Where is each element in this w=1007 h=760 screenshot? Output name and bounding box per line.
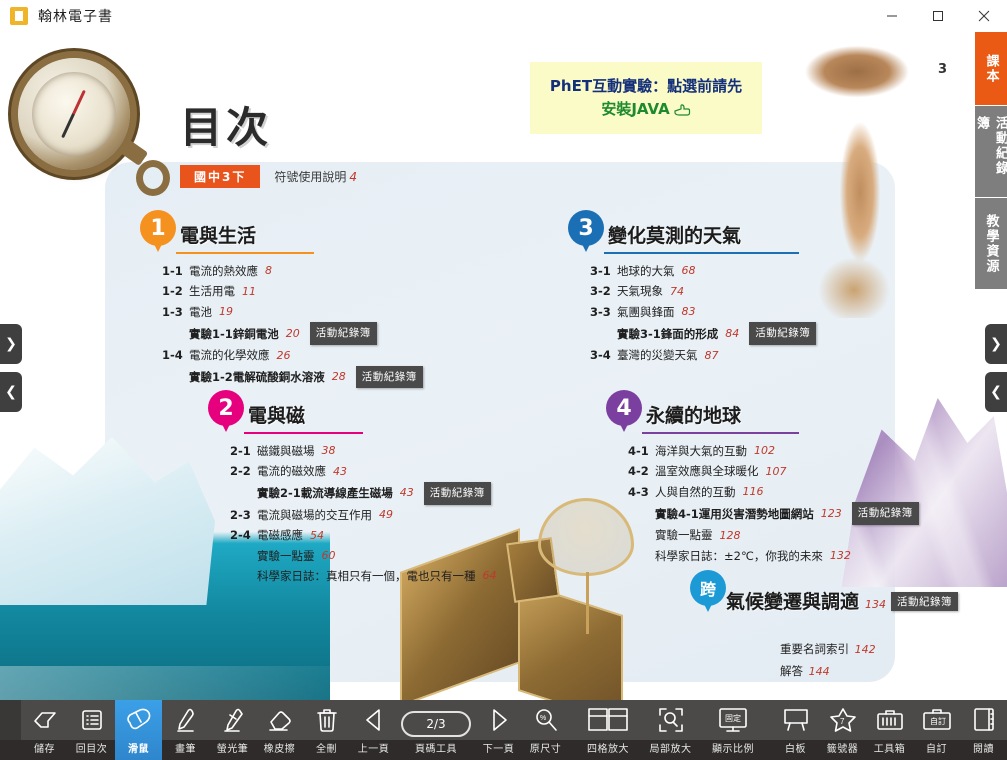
toolbar-item-label: 回目次 [76, 740, 108, 755]
toc-entry[interactable]: 4-1海洋與大氣的互動102 [628, 441, 919, 461]
compass-illustration [8, 40, 176, 215]
chapter-underline [176, 252, 314, 254]
toolbar-item-label: 閱讀 [973, 740, 994, 755]
window-title: 翰林電子書 [38, 6, 113, 26]
chapter-block-4[interactable]: 4永續的地球4-1海洋與大氣的互動1024-2溫室效應與全球暖化1074-3人與… [606, 390, 919, 566]
toc-entry-number: 4-3 [628, 482, 650, 502]
cross-discipline-page: 134 [865, 598, 886, 611]
side-tab-label: 教學資源 [982, 214, 1001, 274]
chapter-section-list: 4-1海洋與大氣的互動1024-2溫室效應與全球暖化1074-3人與自然的互動1… [606, 441, 919, 566]
toolbar-mouse[interactable]: 滑鼠 [115, 700, 162, 760]
whiteboard-icon [782, 700, 810, 740]
toc-entry-page: 54 [310, 526, 324, 546]
phet-notice-line2: 安裝JAVA [601, 98, 690, 121]
toolbar-custom[interactable]: 自訂自訂 [913, 700, 960, 760]
mouse-icon [124, 700, 154, 740]
toc-entry[interactable]: 1-2生活用電11 [162, 281, 423, 301]
toc-entry-page: 43 [400, 483, 414, 503]
toc-entry-label: 實驗一點靈 [257, 546, 315, 566]
toolbar-item-label: 儲存 [34, 740, 55, 755]
phet-notice-line2-text: 安裝JAVA [601, 98, 669, 121]
toolbar-star-lottery[interactable]: 7籤號器 [819, 700, 866, 760]
toc-entry[interactable]: 科學家日誌：±2℃，你我的未來132 [628, 546, 919, 566]
toc-entry-label: 電池 [189, 302, 212, 322]
cross-discipline-record-badge[interactable]: 活動紀錄簿 [891, 592, 958, 611]
toc-list-icon [80, 700, 104, 740]
toc-entry[interactable]: 3-4臺灣的災變天氣87 [590, 345, 816, 365]
custom-icon: 自訂 [922, 700, 952, 740]
toc-entry-page: 26 [277, 346, 291, 366]
reading-book-icon [972, 700, 996, 740]
toc-entry-page: 19 [219, 302, 233, 322]
bottom-toolbar: 儲存回目次滑鼠畫筆螢光筆橡皮擦全刪上一頁2/3頁碼工具下一頁%原尺寸四格放大局部… [0, 700, 1007, 760]
toolbar-highlighter[interactable]: 螢光筆 [209, 700, 256, 760]
toolbar-display-scale[interactable]: 固定顯示比例 [694, 700, 772, 760]
toc-entry-number: 3-1 [590, 261, 612, 281]
back-matter-page: 144 [809, 665, 830, 678]
toolbar-item-label: 原尺寸 [530, 740, 562, 755]
chapter-title: 電與生活 [180, 221, 314, 248]
activity-record-badge[interactable]: 活動紀錄簿 [356, 366, 423, 389]
toolbar-next-page[interactable]: 下一頁 [475, 700, 522, 760]
toc-entry[interactable]: 2-1磁鐵與磁場38 [230, 441, 497, 461]
toc-entry-page: 11 [242, 282, 256, 302]
toc-entry-number: 2-1 [230, 441, 252, 461]
toc-entry-label: 電流的磁效應 [257, 461, 326, 481]
toolbar-toolbox[interactable]: 工具箱 [866, 700, 913, 760]
toolbar-prev-page[interactable]: 上一頁 [350, 700, 397, 760]
grade-badge: 國中3下 [180, 165, 260, 188]
right-prev-arrow[interactable]: ❮ [985, 372, 1007, 412]
pen-icon [174, 700, 198, 740]
toc-entry-label: 實驗一點靈 [655, 525, 713, 545]
toc-entry[interactable]: 3-3氣團與鋒面83 [590, 302, 816, 322]
chapter-block-3[interactable]: 3變化莫測的天氣3-1地球的大氣683-2天氣現象743-3氣團與鋒面83實驗3… [568, 210, 816, 366]
toc-entry-label: 海洋與大氣的互動 [655, 441, 747, 461]
save-diamond-icon [32, 700, 58, 740]
toc-entry[interactable]: 科學家日誌：真相只有一個，電也只有一種64 [230, 566, 497, 586]
toolbar-whiteboard[interactable]: 白板 [772, 700, 819, 760]
cross-discipline-pin: 跨 [690, 570, 726, 614]
toc-entry-number: 2-3 [230, 505, 252, 525]
toc-entry[interactable]: 實驗1-2電解硫酸銅水溶液28活動紀錄簿 [162, 366, 423, 389]
back-matter-entry[interactable]: 重要名詞索引 142 [780, 639, 876, 661]
chapter-pin-4: 4 [606, 390, 642, 434]
toc-entry-label: 地球的大氣 [617, 261, 675, 281]
toc-entry-number: 3-3 [590, 302, 612, 322]
toolbar-eraser[interactable]: 橡皮擦 [256, 700, 303, 760]
activity-record-badge[interactable]: 活動紀錄簿 [749, 322, 816, 345]
chapter-section-list: 1-1電流的熱效應81-2生活用電111-3電池19實驗1-1鋅銅電池20活動紀… [140, 261, 423, 388]
toc-entry-label: 電流與磁場的交互作用 [257, 505, 372, 525]
toc-entry[interactable]: 2-3電流與磁場的交互作用49 [230, 505, 497, 525]
toc-entry-label: 溫室效應與全球暖化 [655, 461, 759, 481]
page-number-tool-icon: 2/3 [401, 700, 471, 740]
back-matter-list: 重要名詞索引 142解答 144 [780, 639, 876, 683]
toolbar-actual-size[interactable]: %原尺寸 [522, 700, 569, 760]
toc-entry[interactable]: 實驗1-1鋅銅電池20活動紀錄簿 [162, 322, 423, 345]
toc-entry-page: 83 [682, 302, 696, 322]
toolbar-item-label: 工具箱 [874, 740, 906, 755]
toc-entry-label: 臺灣的災變天氣 [617, 345, 698, 365]
toc-entry-number: 4-2 [628, 461, 650, 481]
toolbar-pen[interactable]: 畫筆 [162, 700, 209, 760]
prev-page-icon [362, 700, 386, 740]
toolbar-item-label: 籤號器 [827, 740, 859, 755]
quad-zoom-icon [588, 700, 628, 740]
highlighter-icon [221, 700, 245, 740]
toc-entry[interactable]: 實驗一點靈60 [230, 546, 497, 566]
toc-entry-label: 實驗3-1鋒面的形成 [617, 324, 718, 344]
eraser-icon [267, 700, 293, 740]
actual-size-icon: % [533, 700, 559, 740]
toc-entry-label: 電磁感應 [257, 525, 303, 545]
chapter-pin-3: 3 [568, 210, 604, 254]
toc-entry-label: 科學家日誌：±2℃，你我的未來 [655, 546, 823, 566]
chapter-pin-2: 2 [208, 390, 244, 434]
close-button[interactable] [961, 0, 1007, 32]
toolbar-item-label: 螢光筆 [217, 740, 249, 755]
display-scale-icon: 固定 [717, 700, 749, 740]
toc-entry-label: 氣團與鋒面 [617, 302, 675, 322]
toolbar-reading-book[interactable]: 閱讀 [960, 700, 1007, 760]
toc-entry-number: 2-2 [230, 461, 252, 481]
book-page-canvas[interactable]: 3 PhET互動實驗：點選前請先 安裝JAVA 目次 國中3下 符號使用說明4 … [0, 32, 1007, 700]
toolbar-trash[interactable]: 全刪 [303, 700, 350, 760]
phet-java-notice: PhET互動實驗：點選前請先 安裝JAVA [530, 62, 762, 134]
chapter-block-2[interactable]: 2電與磁2-1磁鐵與磁場382-2電流的磁效應43實驗2-1載流導線產生磁場43… [208, 390, 497, 587]
toolbar-page-number-tool[interactable]: 2/3頁碼工具 [397, 700, 475, 760]
toc-entry-label: 生活用電 [189, 281, 235, 301]
toc-entry-label: 磁鐵與磁場 [257, 441, 315, 461]
left-prev-arrow[interactable]: ❮ [0, 372, 22, 412]
toolbox-icon [876, 700, 904, 740]
toc-entry-page: 74 [670, 282, 684, 302]
toolbar-item-label: 白板 [785, 740, 806, 755]
chapter-block-1[interactable]: 1電與生活1-1電流的熱效應81-2生活用電111-3電池19實驗1-1鋅銅電池… [140, 210, 423, 388]
toc-entry[interactable]: 實驗一點靈128 [628, 525, 919, 545]
toc-entry[interactable]: 實驗2-1載流導線產生磁場43活動紀錄簿 [230, 482, 497, 505]
toc-entry[interactable]: 1-4電流的化學效應26 [162, 345, 423, 365]
side-tab-課本[interactable]: 課本 [975, 32, 1007, 106]
toolbar-item-label: 四格放大 [587, 740, 629, 755]
toc-entry-page: 49 [379, 505, 393, 525]
star-lottery-icon: 7 [829, 700, 857, 740]
toc-entry-label: 天氣現象 [617, 281, 663, 301]
toc-entry-number: 1-1 [162, 261, 184, 281]
toc-entry-label: 科學家日誌：真相只有一個，電也只有一種 [257, 566, 476, 586]
toc-entry-page: 38 [322, 441, 336, 461]
back-matter-label: 解答 [780, 664, 807, 678]
toc-entry-page: 123 [821, 504, 842, 524]
back-matter-label: 重要名詞索引 [780, 642, 853, 656]
region-zoom-icon [658, 700, 684, 740]
activity-record-badge[interactable]: 活動紀錄簿 [310, 322, 377, 345]
toc-entry-label: 實驗4-1運用災害潛勢地圖網站 [655, 504, 814, 524]
toc-entry[interactable]: 3-1地球的大氣68 [590, 261, 816, 281]
toolbar-item-label: 全刪 [316, 740, 337, 755]
right-side-tabs: 課本活動紀錄簿教學資源 [975, 32, 1007, 290]
toolbar-item-label: 頁碼工具 [415, 740, 457, 755]
toc-entry-label: 電流的化學效應 [189, 345, 270, 365]
toc-entry[interactable]: 2-2電流的磁效應43 [230, 461, 497, 481]
minimize-button[interactable] [869, 0, 915, 32]
toc-entry-page: 43 [333, 462, 347, 482]
chapter-underline [604, 252, 799, 254]
toc-entry-page: 8 [265, 261, 272, 281]
page-number-label: 3 [938, 62, 947, 77]
side-tab-活動紀錄簿[interactable]: 活動紀錄簿 [975, 106, 1007, 198]
toc-entry-number: 3-2 [590, 281, 612, 301]
svg-text:固定: 固定 [725, 713, 741, 723]
toc-entry-number: 3-4 [590, 345, 612, 365]
toc-entry-page: 68 [682, 261, 696, 281]
symbol-usage-page: 4 [349, 170, 357, 184]
toolbar-left-spacer [0, 700, 21, 760]
back-matter-entry[interactable]: 解答 144 [780, 661, 876, 683]
toc-entry-page: 128 [720, 526, 741, 546]
activity-record-badge[interactable]: 活動紀錄簿 [852, 502, 919, 525]
toc-entry-number: 1-3 [162, 302, 184, 322]
toolbar-item-label: 自訂 [926, 740, 947, 755]
left-next-arrow[interactable]: ❯ [0, 324, 22, 364]
pointing-hand-icon [673, 103, 691, 117]
toolbar-region-zoom[interactable]: 局部放大 [647, 700, 694, 760]
toc-entry-label: 人與自然的互動 [655, 482, 736, 502]
cross-discipline-title: 氣候變遷與調適 [726, 587, 859, 614]
toc-entry-page: 84 [725, 324, 739, 344]
toc-entry[interactable]: 1-1電流的熱效應8 [162, 261, 423, 281]
svg-text:7: 7 [840, 717, 845, 726]
chapter-section-list: 2-1磁鐵與磁場382-2電流的磁效應43實驗2-1載流導線產生磁場43活動紀錄… [208, 441, 497, 587]
toolbar-item-label: 橡皮擦 [264, 740, 296, 755]
toc-entry-page: 64 [483, 566, 497, 586]
chapter-pin-1: 1 [140, 210, 176, 254]
toc-entry-number: 1-2 [162, 281, 184, 301]
side-tab-label: 活動紀錄簿 [972, 116, 1007, 187]
toc-entry-number: 4-1 [628, 441, 650, 461]
toc-entry[interactable]: 實驗3-1鋒面的形成84活動紀錄簿 [590, 322, 816, 345]
toc-entry-number: 2-4 [230, 525, 252, 545]
toc-entry-page: 132 [830, 546, 851, 566]
toc-header: 目次 國中3下 符號使用說明4 [180, 94, 357, 188]
toolbar-item-label: 顯示比例 [712, 740, 754, 755]
chapter-section-list: 3-1地球的大氣683-2天氣現象743-3氣團與鋒面83實驗3-1鋒面的形成8… [568, 261, 816, 366]
toc-entry-label: 實驗1-1鋅銅電池 [189, 324, 279, 344]
toc-entry-page: 102 [754, 441, 775, 461]
toc-entry-page: 20 [286, 324, 300, 344]
back-matter-page: 142 [855, 643, 876, 656]
svg-text:%: % [540, 715, 546, 722]
toc-entry-label: 實驗1-2電解硫酸銅水溶液 [189, 367, 325, 387]
symbol-usage-note[interactable]: 符號使用說明4 [274, 168, 357, 185]
toc-entry-label: 實驗2-1載流導線產生磁場 [257, 483, 393, 503]
toolbar-quad-zoom[interactable]: 四格放大 [569, 700, 647, 760]
toc-entry-page: 60 [322, 546, 336, 566]
toc-entry-number: 1-4 [162, 345, 184, 365]
toolbar-items: 儲存回目次滑鼠畫筆螢光筆橡皮擦全刪上一頁2/3頁碼工具下一頁%原尺寸四格放大局部… [21, 700, 1007, 760]
side-tab-教學資源[interactable]: 教學資源 [975, 198, 1007, 290]
cross-discipline-section[interactable]: 跨 氣候變遷與調適 134 活動紀錄簿 [690, 570, 958, 614]
activity-record-badge[interactable]: 活動紀錄簿 [424, 482, 491, 505]
toolbar-item-label: 局部放大 [650, 740, 692, 755]
phet-notice-line1: PhET互動實驗：點選前請先 [550, 75, 742, 98]
toolbar-toc-list[interactable]: 回目次 [68, 700, 115, 760]
trash-icon [316, 700, 338, 740]
chapter-title: 電與磁 [248, 401, 363, 428]
chapter-title: 變化莫測的天氣 [608, 221, 799, 248]
toolbar-save-diamond[interactable]: 儲存 [21, 700, 68, 760]
toolbar-item-label: 上一頁 [358, 740, 390, 755]
toc-entry-page: 87 [705, 346, 719, 366]
page-indicator[interactable]: 2/3 [401, 711, 471, 737]
app-icon [10, 7, 28, 25]
toc-entry-page: 107 [766, 462, 787, 482]
chapter-underline [642, 432, 799, 434]
toc-entry[interactable]: 實驗4-1運用災害潛勢地圖網站123活動紀錄簿 [628, 502, 919, 525]
symbol-usage-label: 符號使用說明 [274, 170, 346, 184]
toc-entry[interactable]: 2-4電磁感應54 [230, 525, 497, 545]
toolbar-item-label: 畫筆 [175, 740, 196, 755]
toolbar-item-label: 下一頁 [483, 740, 515, 755]
toc-entry[interactable]: 4-2溫室效應與全球暖化107 [628, 461, 919, 481]
chapter-underline [244, 432, 363, 434]
maximize-button[interactable] [915, 0, 961, 32]
toc-entry-page: 28 [332, 367, 346, 387]
toc-entry-page: 116 [743, 482, 764, 502]
toolbar-item-label: 滑鼠 [128, 740, 149, 755]
page-title: 目次 [180, 94, 357, 155]
window-title-bar: 翰林電子書 [0, 0, 1007, 32]
toc-entry[interactable]: 3-2天氣現象74 [590, 281, 816, 301]
toc-entry[interactable]: 1-3電池19 [162, 302, 423, 322]
next-page-icon [487, 700, 511, 740]
toc-entry[interactable]: 4-3人與自然的互動116 [628, 482, 919, 502]
side-tab-label: 課本 [982, 54, 1001, 84]
window-controls [869, 0, 1007, 32]
toc-entry-label: 電流的熱效應 [189, 261, 258, 281]
chapter-title: 永續的地球 [646, 401, 799, 428]
right-next-arrow[interactable]: ❯ [985, 324, 1007, 364]
svg-text:自訂: 自訂 [930, 716, 946, 726]
